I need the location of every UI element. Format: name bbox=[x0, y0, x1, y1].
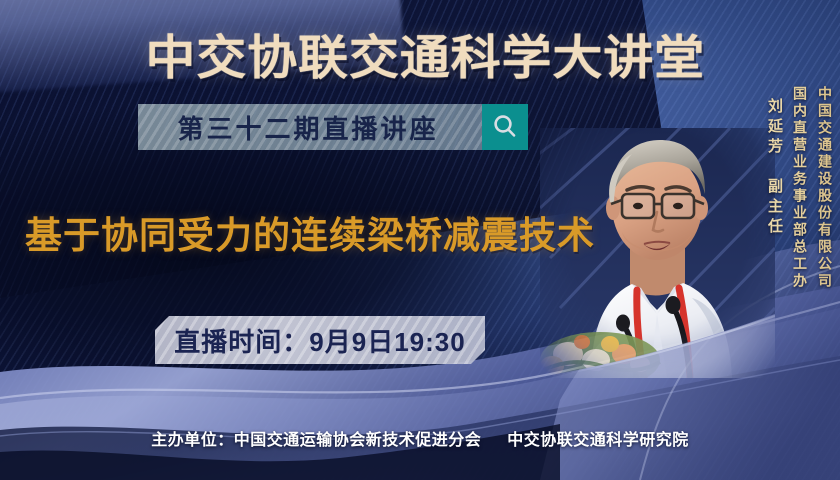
episode-banner: 第三十二期直播讲座 bbox=[138, 104, 528, 150]
episode-banner-body: 第三十二期直播讲座 bbox=[138, 104, 482, 150]
speaker-company: 中国交通建设股份有限公司 bbox=[808, 86, 832, 290]
live-time-badge: 直播时间：9月9日19:30 bbox=[155, 316, 485, 364]
organizer-prefix: 主办单位： bbox=[151, 432, 234, 449]
organizer-name-1: 中国交通运输协会新技术促进分会 bbox=[234, 432, 482, 449]
episode-label: 第三十二期直播讲座 bbox=[138, 109, 482, 146]
lecture-topic: 基于协同受力的连续梁桥减震技术 bbox=[0, 205, 620, 259]
page-title: 中交协联交通科学大讲堂 bbox=[0, 19, 840, 88]
organizer-name-2: 中交协联交通科学研究院 bbox=[507, 432, 689, 449]
speaker-department: 国内直营业务事业部总工办 bbox=[783, 86, 807, 290]
search-icon[interactable] bbox=[482, 104, 528, 150]
live-time-text: 直播时间：9月9日19:30 bbox=[174, 322, 465, 359]
speaker-name-title: 刘延芳 副主任 bbox=[758, 98, 782, 238]
poster-canvas: 中交协联交通科学大讲堂 第三十二期直播讲座 基于协同受力的连续梁桥减震技术 直播… bbox=[0, 0, 840, 480]
speaker-credentials: 刘延芳 副主任 国内直营业务事业部总工办 中国交通建设股份有限公司 bbox=[748, 86, 832, 290]
organizer-line: 主办单位：中国交通运输协会新技术促进分会中交协联交通科学研究院 bbox=[0, 426, 840, 450]
